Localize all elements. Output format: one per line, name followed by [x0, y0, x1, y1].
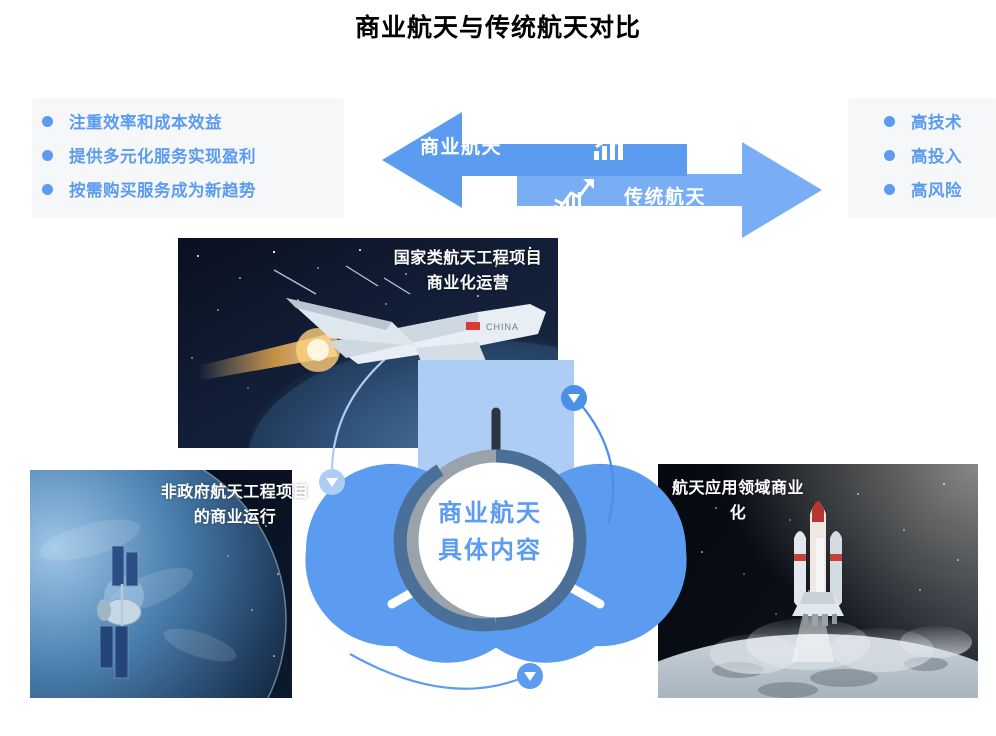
right-traits-panel: 高技术 高投入 高风险 [848, 98, 996, 218]
arrow-traditional-label: 传统航天 [624, 182, 706, 209]
bullet-label: 按需购买服务成为新趋势 [69, 177, 256, 201]
bullet-label: 高投入 [911, 143, 962, 167]
bullet-label: 高技术 [911, 109, 962, 133]
arrows-svg [352, 96, 852, 244]
comparison-arrows: 商业航天 传统航天 [352, 96, 852, 244]
list-item: 高技术 [848, 104, 996, 138]
connector-marker-top-left [319, 469, 345, 495]
photo-caption-left: 非政府航天工程项目的商业运行 [160, 480, 310, 530]
bullet-dot-icon [42, 150, 53, 161]
list-item: 按需购买服务成为新趋势 [32, 172, 344, 206]
bullet-label: 注重效率和成本效益 [69, 109, 222, 133]
list-item: 提供多元化服务实现盈利 [32, 138, 344, 172]
bullet-dot-icon [884, 184, 895, 195]
connector-marker-bottom [517, 663, 543, 689]
page-title: 商业航天与传统航天对比 [0, 12, 996, 44]
list-item: 注重效率和成本效益 [32, 104, 344, 138]
slide-canvas: 商业航天与传统航天对比 注重效率和成本效益 提供多元化服务实现盈利 按需购买服务… [0, 0, 996, 736]
svg-text:CHINA: CHINA [486, 322, 519, 332]
bullet-dot-icon [42, 184, 53, 195]
bullet-dot-icon [884, 150, 895, 161]
trefoil-diagram [276, 360, 716, 710]
bar-chart-growth-icon [592, 128, 634, 167]
left-traits-panel: 注重效率和成本效益 提供多元化服务实现盈利 按需购买服务成为新趋势 [32, 98, 344, 218]
bullet-label: 高风险 [911, 177, 962, 201]
list-item: 高风险 [848, 172, 996, 206]
line-chart-growth-icon [552, 178, 596, 217]
connector-line-top-left [332, 360, 406, 472]
arrow-commercial-label: 商业航天 [420, 132, 502, 159]
list-item: 高投入 [848, 138, 996, 172]
photo-caption-right: 航天应用领域商业化 [668, 476, 808, 526]
connector-marker-top-right [561, 385, 587, 411]
photo-caption-top: 国家类航天工程项目商业化运营 [388, 246, 548, 296]
bullet-label: 提供多元化服务实现盈利 [69, 143, 256, 167]
bullet-dot-icon [884, 116, 895, 127]
bullet-dot-icon [42, 116, 53, 127]
trefoil-svg [276, 360, 716, 710]
